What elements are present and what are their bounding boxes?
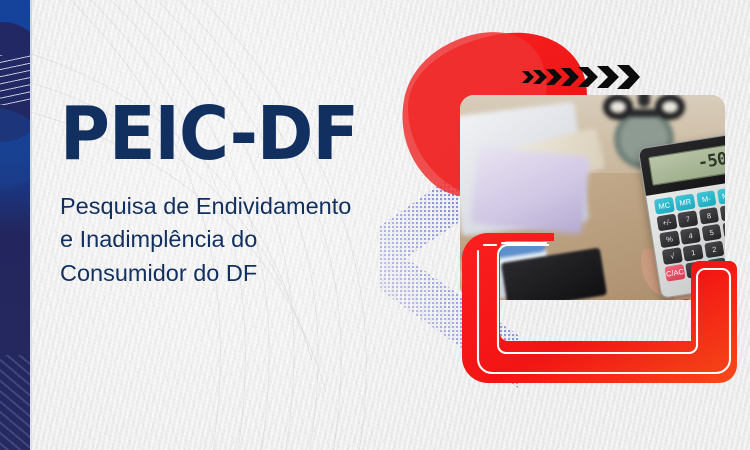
chevron-arrows-icon	[520, 60, 640, 94]
strip-circle-shape-secondary	[0, 108, 30, 190]
strip-diagonal-lines-bottom	[0, 355, 30, 450]
headline-block: PEIC-DF Pesquisa de Endividamento e Inad…	[60, 100, 405, 290]
calculator-key: 8	[699, 207, 720, 224]
left-accent-strip	[0, 0, 30, 450]
peic-df-banner: PEIC-DF Pesquisa de Endividamento e Inad…	[0, 0, 750, 450]
calculator-key: MR	[675, 194, 696, 211]
strip-diagonal-lines-top	[0, 55, 30, 105]
page-title: PEIC-DF	[60, 100, 377, 168]
calculator-key: M-	[696, 190, 717, 207]
red-frame-shape	[462, 233, 737, 383]
calculator-key: M+	[717, 187, 725, 204]
calculator-key: MC	[654, 197, 675, 214]
calculator-key: +/-	[656, 214, 677, 231]
artwork-composition: -5000 MC MR M- M+ ON +/- 7 8 9 X %	[380, 0, 750, 450]
page-subtitle: Pesquisa de Endividamento e Inadimplênci…	[60, 190, 405, 290]
calculator-display-value: -5000	[697, 148, 725, 172]
strip-edge-highlight	[30, 0, 32, 450]
calculator-key: 7	[678, 210, 699, 227]
photo-banknotes	[470, 145, 590, 234]
calculator-key: 9	[720, 204, 725, 221]
